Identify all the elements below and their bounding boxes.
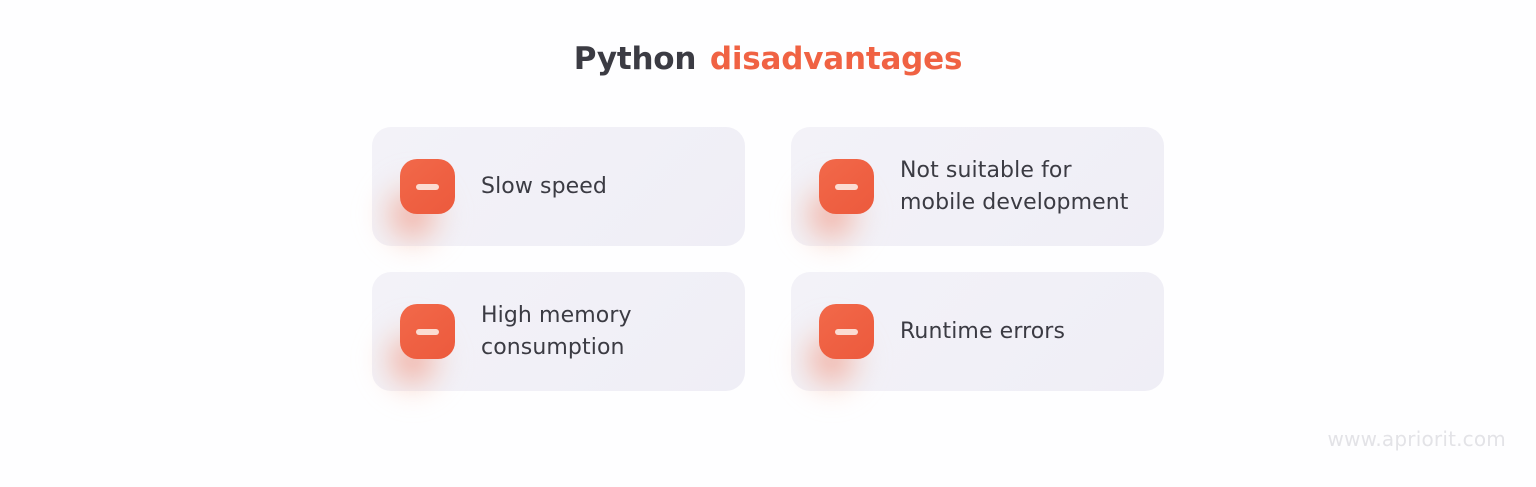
disadvantage-label: High memory consumption: [481, 300, 731, 364]
minus-icon-wrapper: [400, 304, 455, 359]
minus-icon: [819, 159, 874, 214]
minus-glyph: [416, 184, 439, 190]
watermark: www.apriorit.com: [1328, 427, 1506, 451]
minus-icon-wrapper: [819, 304, 874, 359]
disadvantage-label: Not suitable for mobile development: [900, 155, 1150, 219]
minus-icon: [400, 159, 455, 214]
page-title-accent: disadvantages: [710, 41, 962, 77]
page-title: Python disadvantages: [0, 38, 1536, 80]
disadvantage-card: Not suitable for mobile development: [791, 127, 1164, 246]
disadvantage-card-grid: Slow speed Not suitable for mobile devel…: [372, 127, 1164, 391]
disadvantage-label: Slow speed: [481, 171, 607, 203]
disadvantage-card: High memory consumption: [372, 272, 745, 391]
disadvantage-label: Runtime errors: [900, 316, 1065, 348]
minus-glyph: [416, 329, 439, 335]
disadvantage-card: Slow speed: [372, 127, 745, 246]
minus-icon-wrapper: [819, 159, 874, 214]
page-title-main: Python: [574, 41, 697, 77]
minus-icon: [819, 304, 874, 359]
minus-glyph: [835, 184, 858, 190]
disadvantage-card: Runtime errors: [791, 272, 1164, 391]
minus-icon-wrapper: [400, 159, 455, 214]
minus-icon: [400, 304, 455, 359]
infographic-canvas: Python disadvantages Slow speed Not suit…: [0, 0, 1536, 487]
minus-glyph: [835, 329, 858, 335]
